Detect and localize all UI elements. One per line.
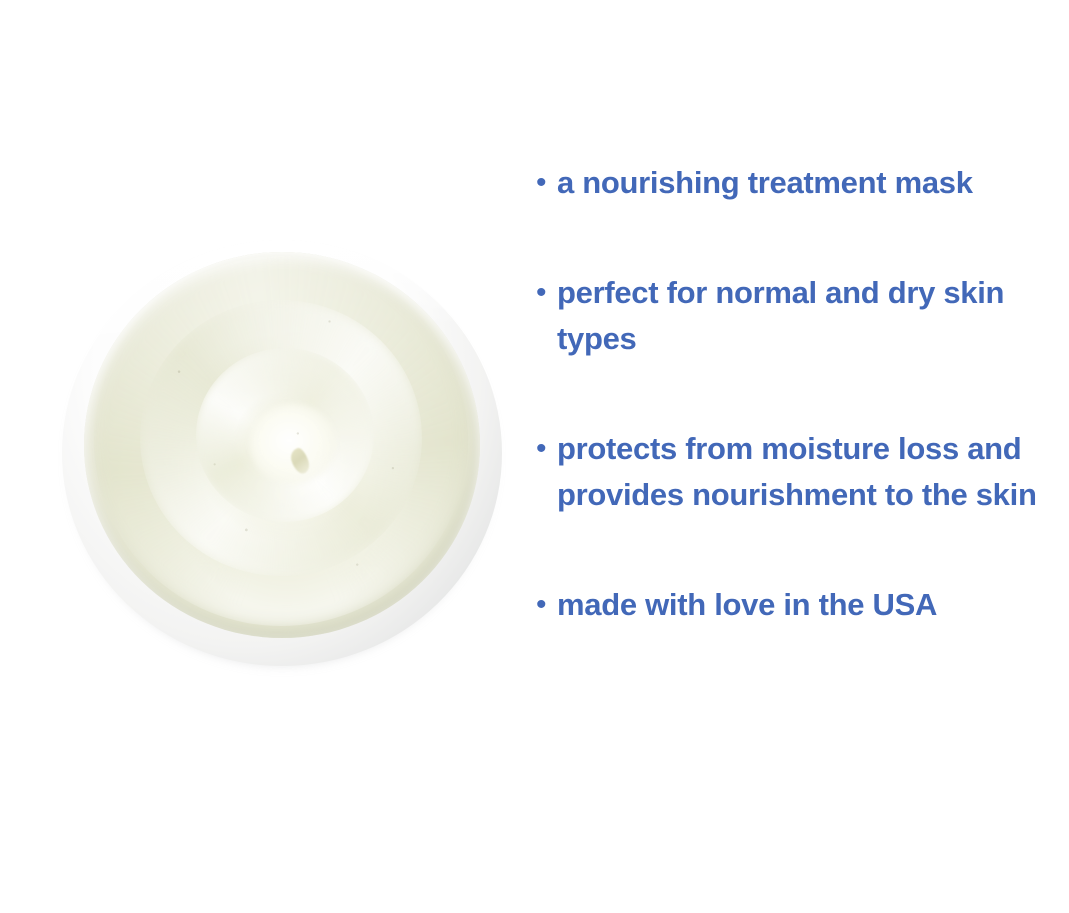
cream-surface xyxy=(84,252,480,638)
bullet-icon: • xyxy=(530,160,557,206)
bullet-icon: • xyxy=(530,270,557,316)
bullet-icon: • xyxy=(530,582,557,628)
product-image xyxy=(60,236,504,670)
benefits-list: • a nourishing treatment mask • perfect … xyxy=(530,160,1060,628)
benefit-item-2: • perfect for normal and dry skin types xyxy=(530,270,1060,362)
bullet-icon: • xyxy=(530,426,557,472)
benefit-text-4: made with love in the USA xyxy=(557,582,1057,628)
cream-swirl-center-highlight xyxy=(250,404,336,484)
benefit-item-3: • protects from moisture loss and provid… xyxy=(530,426,1060,518)
benefit-item-4: • made with love in the USA xyxy=(530,582,1060,628)
benefit-text-1: a nourishing treatment mask xyxy=(557,160,1057,206)
benefit-text-2: perfect for normal and dry skin types xyxy=(557,270,1057,362)
benefit-item-1: • a nourishing treatment mask xyxy=(530,160,1060,206)
benefit-text-3: protects from moisture loss and provides… xyxy=(557,426,1057,518)
